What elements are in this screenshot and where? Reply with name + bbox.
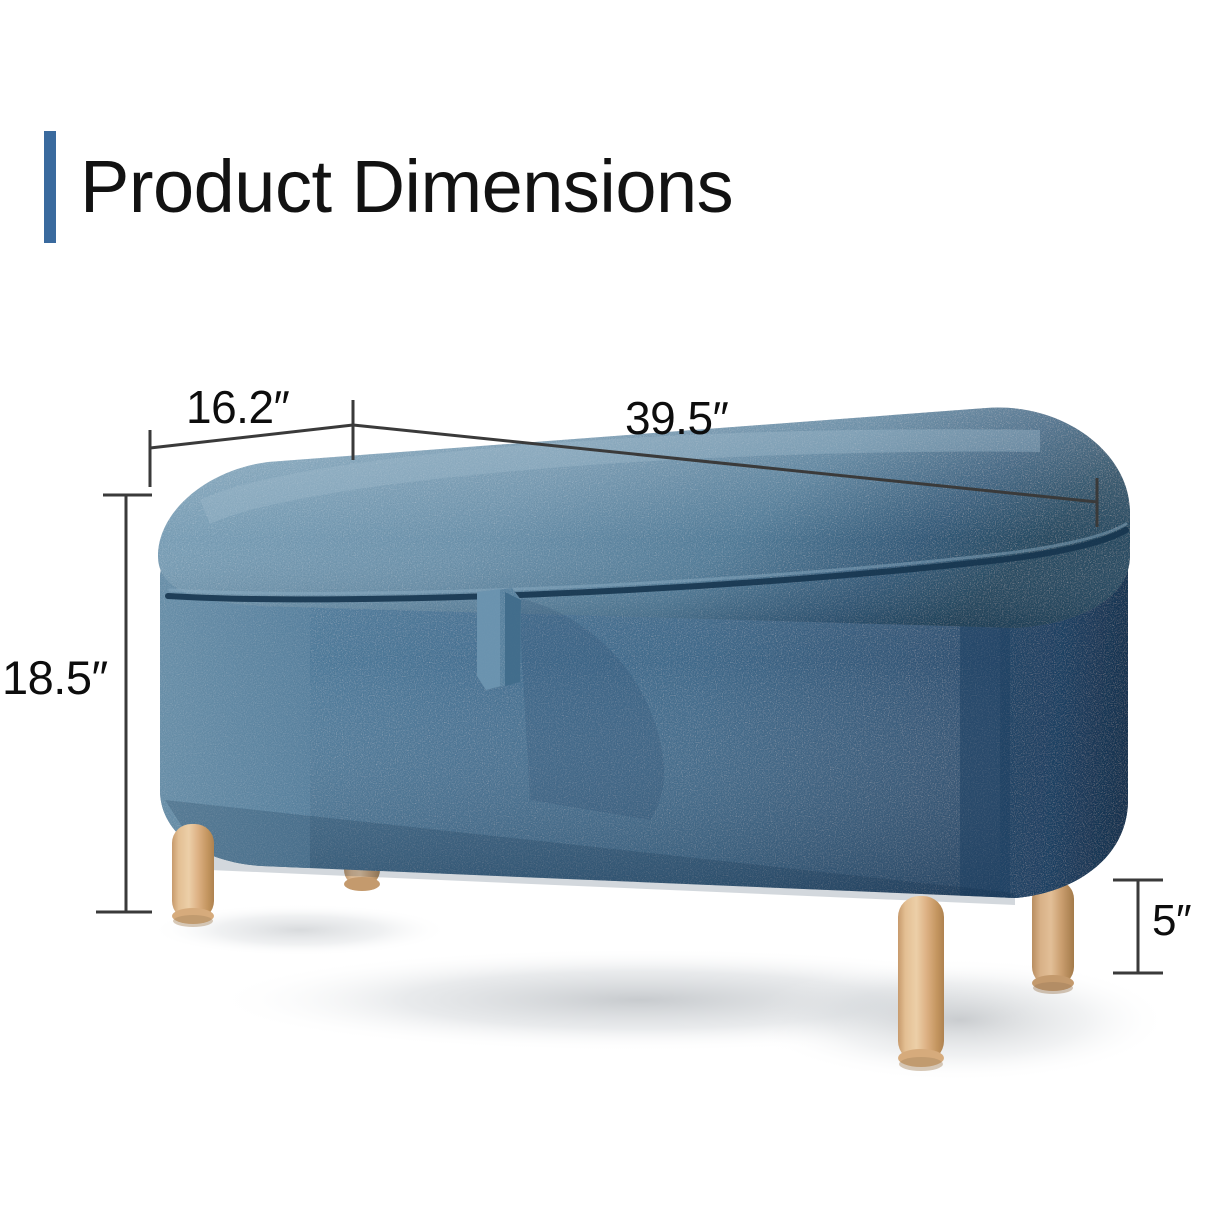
product-dimensions-image: Product Dimensions bbox=[0, 0, 1208, 1208]
product-illustration bbox=[0, 0, 1208, 1208]
bench-leg-front-right bbox=[898, 896, 944, 1071]
bench-leg-back-right bbox=[1032, 880, 1074, 994]
dimension-label-depth: 16.2″ bbox=[186, 380, 289, 434]
dimension-label-leg-height: 5″ bbox=[1152, 896, 1191, 946]
ground-shadow bbox=[150, 904, 1170, 1082]
bench-leg-front-left bbox=[172, 824, 214, 927]
dimension-label-height: 18.5″ bbox=[2, 650, 108, 705]
dimension-label-width: 39.5″ bbox=[625, 391, 728, 445]
